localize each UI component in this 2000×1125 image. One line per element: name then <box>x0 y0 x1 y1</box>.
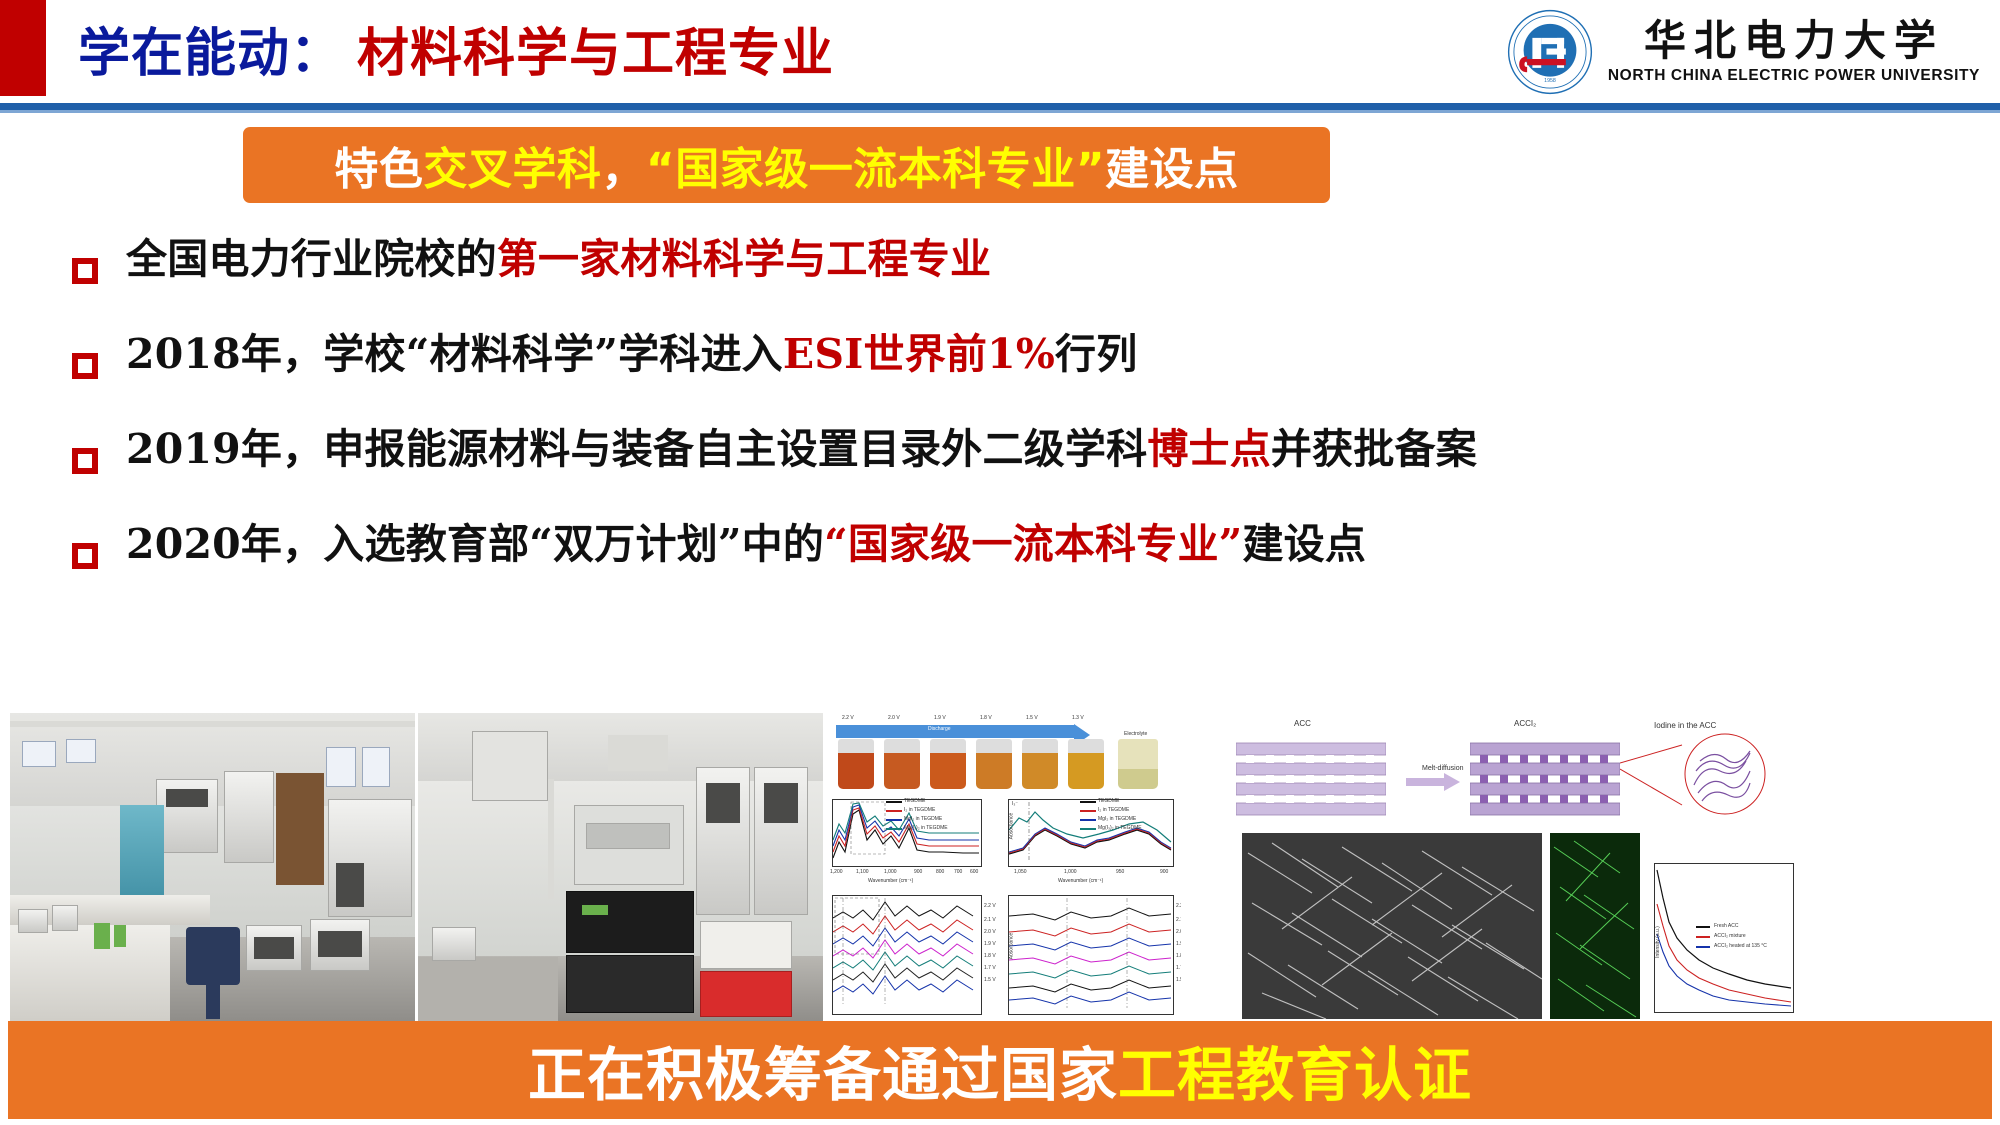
footer-banner-text: 正在积极筹备通过国家工程教育认证 <box>528 1028 1472 1112</box>
research-figure-spectra: 2.2 V 2.0 V 1.9 V 1.8 V 1.5 V 1.3 V Elec… <box>826 713 1181 1024</box>
section-headline-text: 特色交叉学科，“国家级一流本科专业”建设点 <box>334 133 1238 197</box>
page-title-subject: 材料科学与工程专业 <box>357 28 834 80</box>
list-item: 全国电力行业院校的第一家材料科学与工程专业 <box>72 238 1972 333</box>
svg-text:1958: 1958 <box>1544 78 1556 84</box>
ncepu-emblem-icon: 1958 <box>1506 8 1594 96</box>
list-item: 2018年，学校“材料科学”学科进入ESI世界前1%行列 <box>72 333 1972 428</box>
bullet-text-4: 2020年，入选教育部“双万计划”中的“国家级一流本科专业”建设点 <box>126 523 1366 566</box>
bullet-2-part-3: 行列 <box>1055 330 1137 378</box>
laboratory-room-photo-1 <box>10 713 415 1024</box>
image-strip: 2.2 V 2.0 V 1.9 V 1.8 V 1.5 V 1.3 V Elec… <box>10 713 1992 1024</box>
bullet-4-part-3: 建设点 <box>1242 520 1366 568</box>
section-headline-banner: 特色交叉学科，“国家级一流本科专业”建设点 <box>243 127 1330 203</box>
bullet-4-part-1: 2020年，入选教育部“双万计划”中的 <box>126 520 824 568</box>
header-divider-blue-light <box>0 110 2000 113</box>
list-item: 2019年，申报能源材料与装备自主设置目录外二级学科博士点并获批备案 <box>72 428 1972 523</box>
page-title: 学在能动： 材料科学与工程专业 <box>78 14 834 94</box>
bullet-1-part-2: 第一家材料科学与工程专业 <box>497 235 991 283</box>
slide-header: 学在能动： 材料科学与工程专业 1958 华北电力大学 NORTH CHINA … <box>0 0 2000 122</box>
footer-banner: 正在积极筹备通过国家工程教育认证 <box>8 1021 1992 1119</box>
bullet-1-part-1: 全国电力行业院校的 <box>126 235 497 283</box>
square-bullet-icon <box>72 353 98 379</box>
bullet-2-part-2: ESI世界前1% <box>783 330 1055 378</box>
page-title-main: 学在能动： <box>78 28 343 80</box>
footer-part-1: 正在积极筹备通过国家 <box>528 1041 1118 1109</box>
footer-part-2: 工程教育认证 <box>1118 1041 1472 1109</box>
square-bullet-icon <box>72 448 98 474</box>
headline-part-3: ， <box>601 144 646 195</box>
square-bullet-icon <box>72 543 98 569</box>
bullet-3-part-3: 并获批备案 <box>1271 425 1477 473</box>
bullet-2-part-1: 2018年，学校“材料科学”学科进入 <box>126 330 783 378</box>
bullet-3-part-2: 博士点 <box>1147 425 1271 473</box>
bullet-text-3: 2019年，申报能源材料与装备自主设置目录外二级学科博士点并获批备案 <box>126 428 1477 471</box>
bullet-text-2: 2018年，学校“材料科学”学科进入ESI世界前1%行列 <box>126 333 1137 376</box>
headline-part-2: 交叉学科 <box>423 144 601 195</box>
headline-part-1: 特色 <box>334 144 423 195</box>
logo-name-cn: 华北电力大学 <box>1644 19 1944 63</box>
logo-name-en: NORTH CHINA ELECTRIC POWER UNIVERSITY <box>1608 67 1980 85</box>
header-divider-blue <box>0 103 2000 110</box>
bullet-list: 全国电力行业院校的第一家材料科学与工程专业 2018年，学校“材料科学”学科进入… <box>72 238 1972 618</box>
bullet-3-part-1: 2019年，申报能源材料与装备自主设置目录外二级学科 <box>126 425 1147 473</box>
laboratory-equipment-photo-2 <box>418 713 823 1024</box>
headline-part-5: 建设点 <box>1105 144 1239 195</box>
header-red-accent-bar <box>0 0 46 96</box>
bullet-4-part-2: “国家级一流本科专业” <box>824 520 1242 568</box>
headline-part-4: “国家级一流本科专业” <box>646 144 1105 195</box>
research-figure-acc-schematic: ACC ACCI₂ Iodine in the ACC Melt-diffusi… <box>1184 713 1992 1024</box>
list-item: 2020年，入选教育部“双万计划”中的“国家级一流本科专业”建设点 <box>72 523 1972 618</box>
square-bullet-icon <box>72 258 98 284</box>
university-logo: 1958 华北电力大学 NORTH CHINA ELECTRIC POWER U… <box>1506 8 1980 96</box>
bullet-text-1: 全国电力行业院校的第一家材料科学与工程专业 <box>126 238 991 281</box>
